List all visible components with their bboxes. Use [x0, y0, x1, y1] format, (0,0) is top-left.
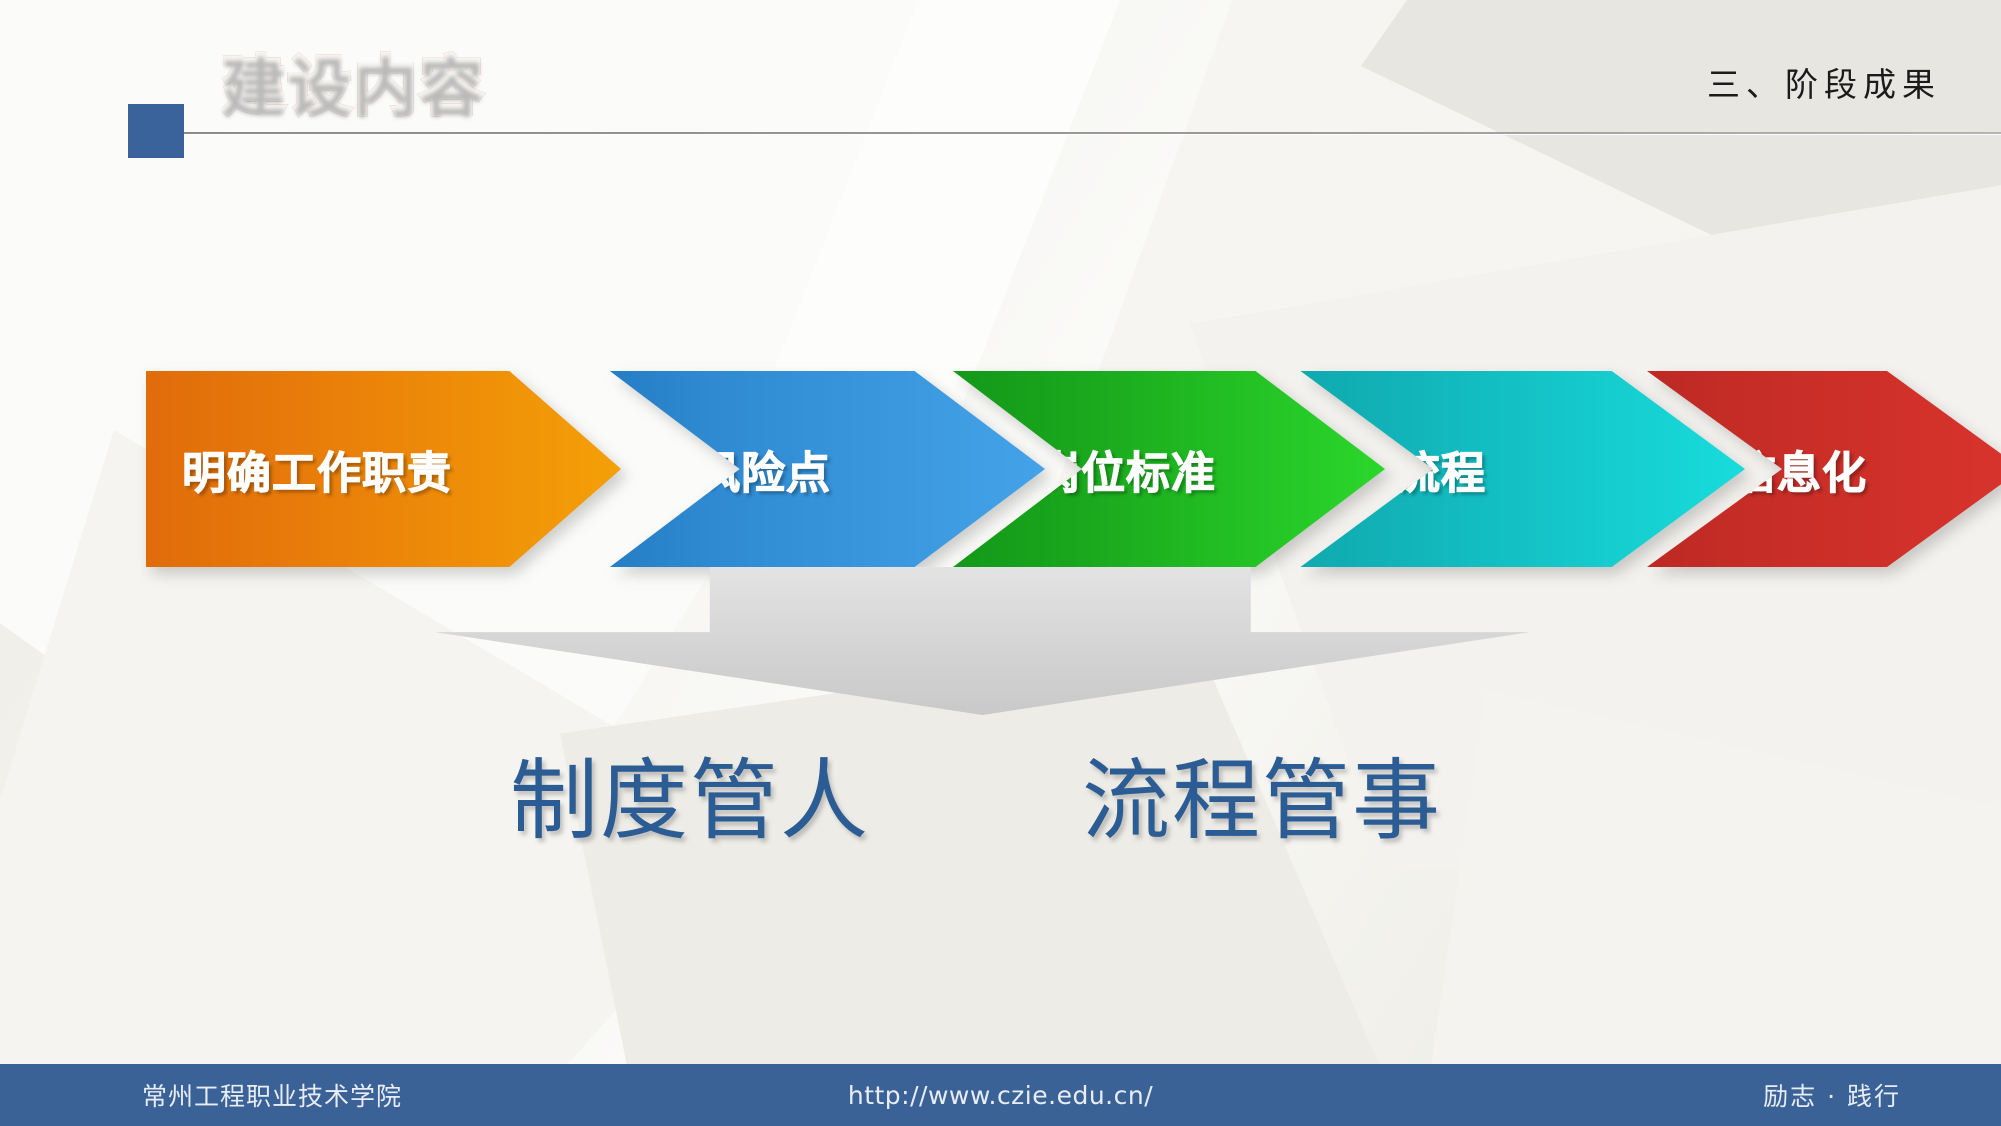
- process-step-2-label: 梳理风险点: [606, 437, 831, 501]
- header-divider: [180, 132, 2001, 134]
- process-step-1[interactable]: 明确工作职责: [146, 371, 621, 567]
- presentation-slide: 建设内容 三、阶段成果 明确工作职责 梳理风险点 制定岗位标准 优化流程 推进信…: [0, 0, 2001, 1126]
- footer-institution: 常州工程职业技术学院: [142, 1077, 402, 1113]
- page-title: 建设内容: [222, 36, 486, 127]
- process-chevron-bar: 明确工作职责 梳理风险点 制定岗位标准 优化流程 推进信息化: [146, 371, 1902, 567]
- outcome-right: 流程管事: [1082, 730, 1442, 857]
- process-step-1-label: 明确工作职责: [182, 437, 452, 501]
- section-label: 三、阶段成果: [1707, 58, 1941, 106]
- title-marker-square: [128, 104, 184, 158]
- outcome-left: 制度管人: [510, 730, 870, 857]
- footer-url[interactable]: http://www.czie.edu.cn/: [848, 1081, 1153, 1110]
- footer-motto: 励志 · 践行: [1763, 1077, 1901, 1113]
- slide-footer: 常州工程职业技术学院 http://www.czie.edu.cn/ 励志 · …: [0, 1064, 2001, 1126]
